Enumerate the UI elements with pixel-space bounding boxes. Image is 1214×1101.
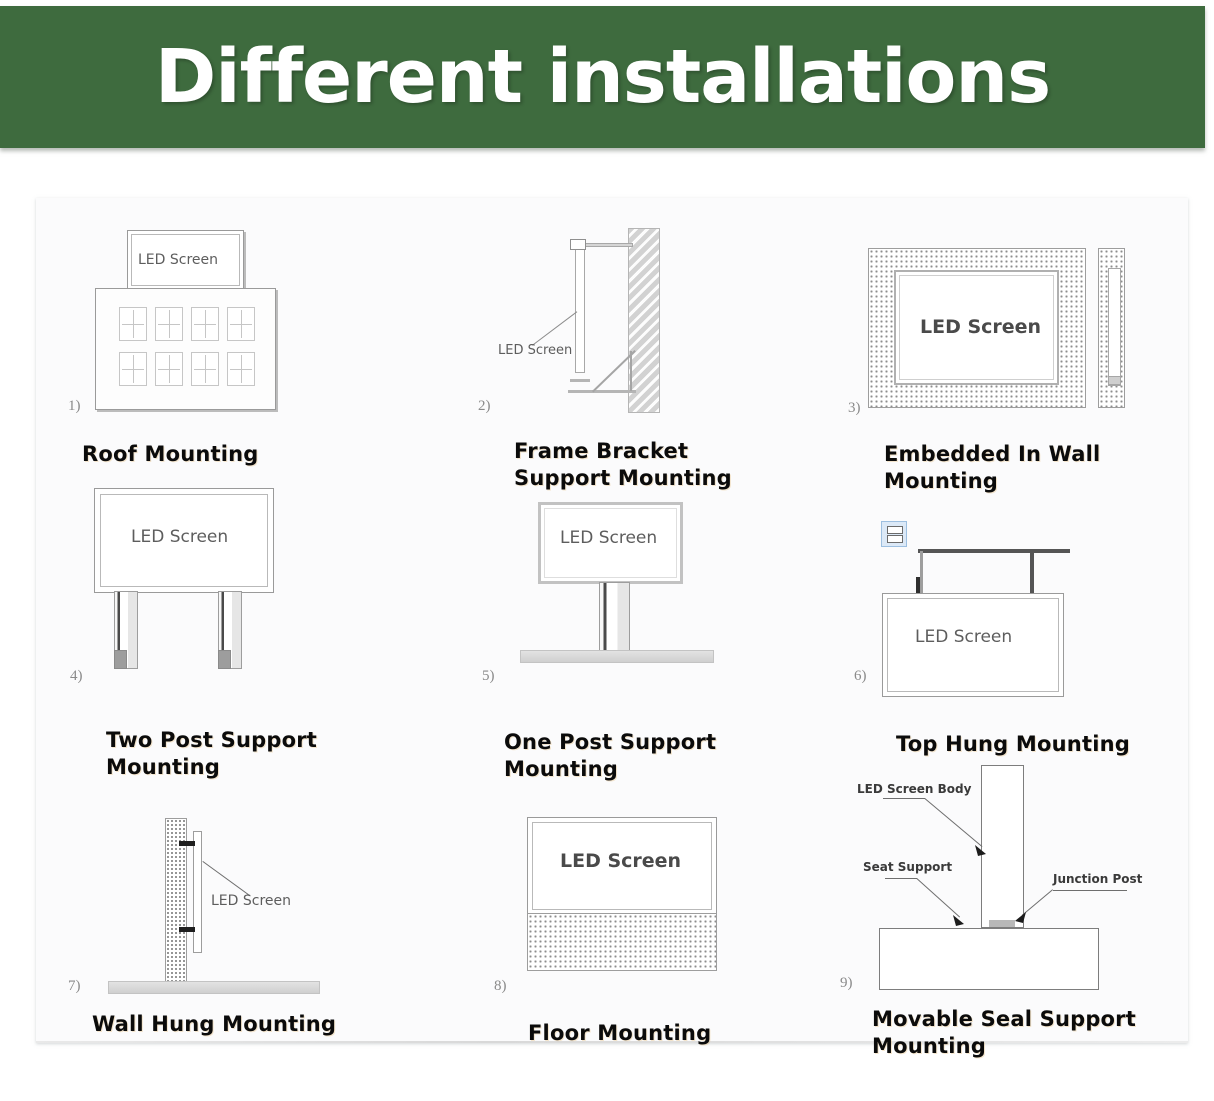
panel-bottom-edge: [36, 1041, 1188, 1043]
page-title: Different installations: [0, 34, 1205, 120]
content-panel: [36, 198, 1188, 1043]
header-banner: Different installations: [0, 6, 1205, 148]
